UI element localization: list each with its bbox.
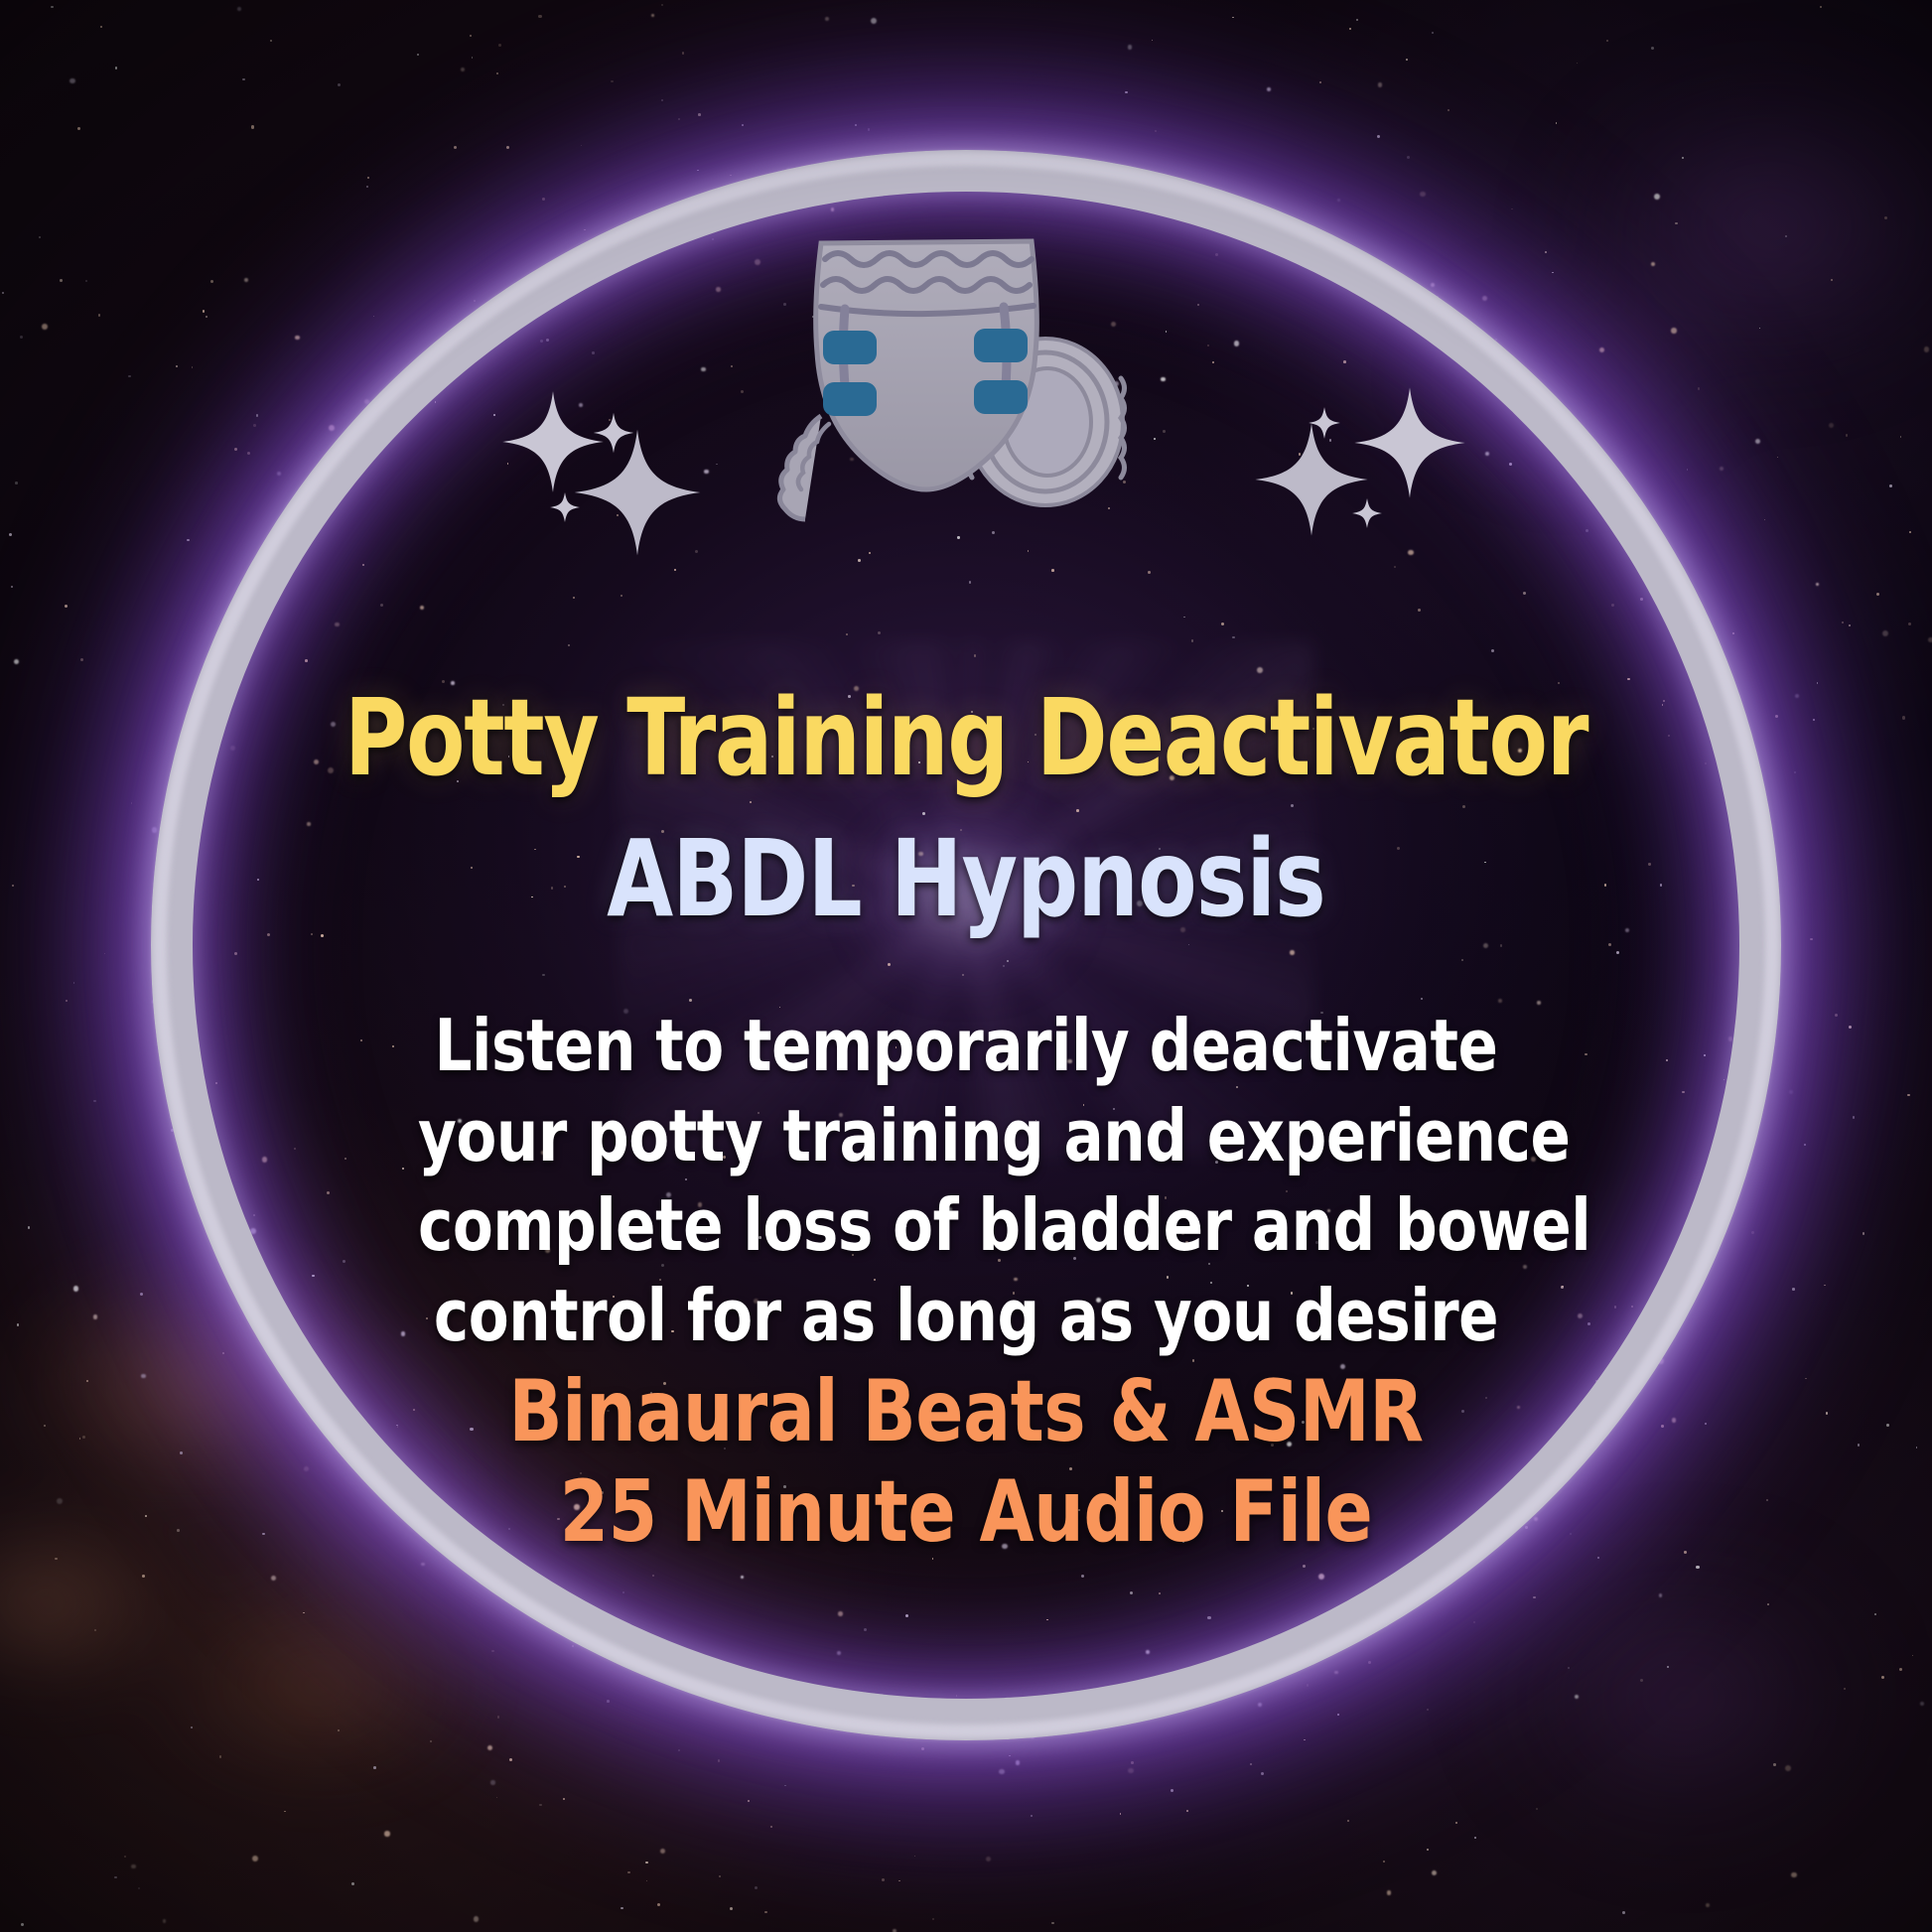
page-title: Potty Training Deactivator bbox=[332, 685, 1600, 793]
page-subtitle: ABDL Hypnosis bbox=[332, 826, 1600, 934]
description-line: Listen to temporarily deactivate bbox=[418, 1001, 1514, 1091]
sparkle-icon-medium-right bbox=[1352, 385, 1467, 500]
sparkle-icon-tiny-right bbox=[1307, 405, 1342, 441]
footer-line-format: Binaural Beats & ASMR bbox=[318, 1362, 1614, 1462]
diaper-pair-icon bbox=[738, 204, 1194, 551]
description-line: complete loss of bladder and bowel bbox=[418, 1180, 1514, 1271]
sparkle-icon-small-right bbox=[1350, 496, 1384, 530]
footer-text: Binaural Beats & ASMR 25 Minute Audio Fi… bbox=[318, 1362, 1614, 1564]
footer-line-duration: 25 Minute Audio File bbox=[318, 1462, 1614, 1563]
sparkle-icon-tiny-left bbox=[548, 490, 582, 524]
description-line: control for as long as you desire bbox=[418, 1271, 1514, 1361]
description-line: your potty training and experience bbox=[418, 1091, 1514, 1181]
poster-canvas: Potty Training Deactivator ABDL Hypnosis… bbox=[0, 0, 1932, 1932]
diaper-tape-tab bbox=[974, 380, 1028, 414]
diaper-tape-tab bbox=[974, 329, 1028, 362]
sparkle-icon-medium-left bbox=[572, 427, 703, 558]
diaper-tape-tab bbox=[823, 382, 877, 416]
diaper-tape-tab bbox=[823, 331, 877, 364]
description-text: Listen to temporarily deactivate your po… bbox=[418, 1001, 1514, 1361]
